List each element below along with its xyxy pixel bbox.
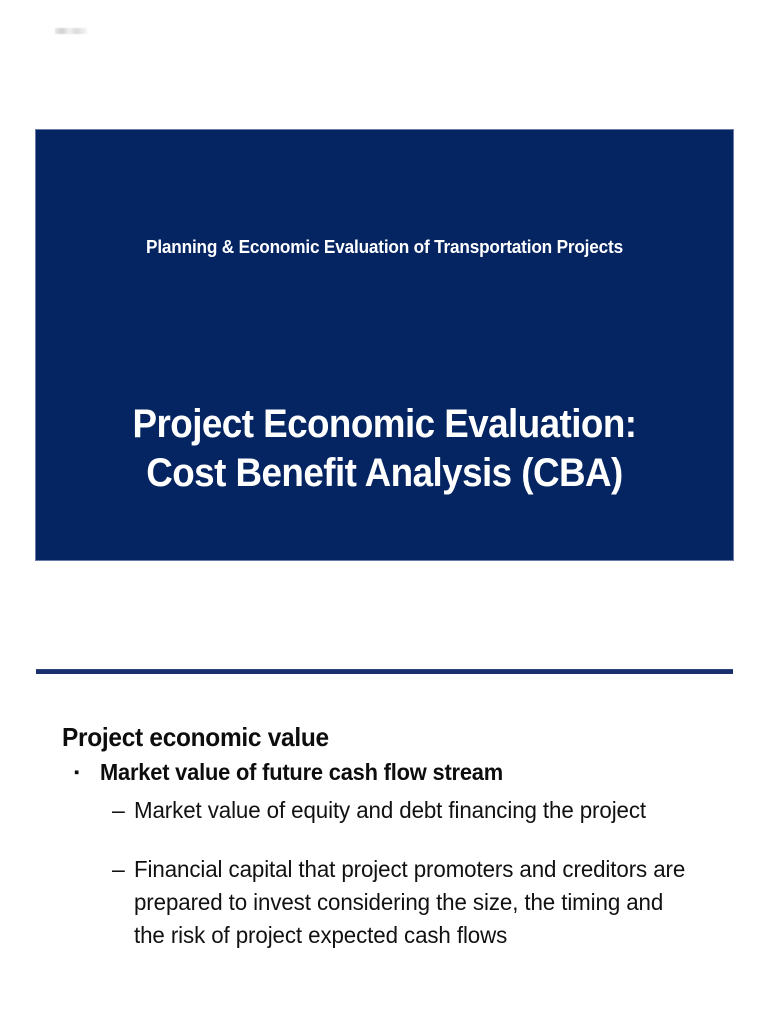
list-item-label: Market value of equity and debt financin… xyxy=(134,794,695,827)
bullet-level1-label: Market value of future cash flow stream xyxy=(100,757,503,788)
page-title-line-1: Project Economic Evaluation: xyxy=(91,400,677,449)
page-title: Project Economic Evaluation: Cost Benefi… xyxy=(91,400,677,498)
dash-bullet-icon: – xyxy=(112,794,134,827)
list-item-label: Financial capital that project promoters… xyxy=(134,853,695,952)
bullet-level1: ▪ Market value of future cash flow strea… xyxy=(74,757,524,788)
section-divider-rule xyxy=(36,669,733,674)
page-title-line-2: Cost Benefit Analysis (CBA) xyxy=(91,449,677,498)
faint-header-mark xyxy=(55,28,87,34)
course-subtitle: Planning & Economic Evaluation of Transp… xyxy=(98,233,672,261)
list-item: – Financial capital that project promote… xyxy=(112,853,712,952)
square-bullet-icon: ▪ xyxy=(74,757,100,788)
section-heading: Project economic value xyxy=(62,721,329,753)
title-slide-panel: Planning & Economic Evaluation of Transp… xyxy=(36,130,733,560)
list-item: – Market value of equity and debt financ… xyxy=(112,794,712,827)
bullet-sublist: – Market value of equity and debt financ… xyxy=(112,794,712,952)
dash-bullet-icon: – xyxy=(112,853,134,886)
